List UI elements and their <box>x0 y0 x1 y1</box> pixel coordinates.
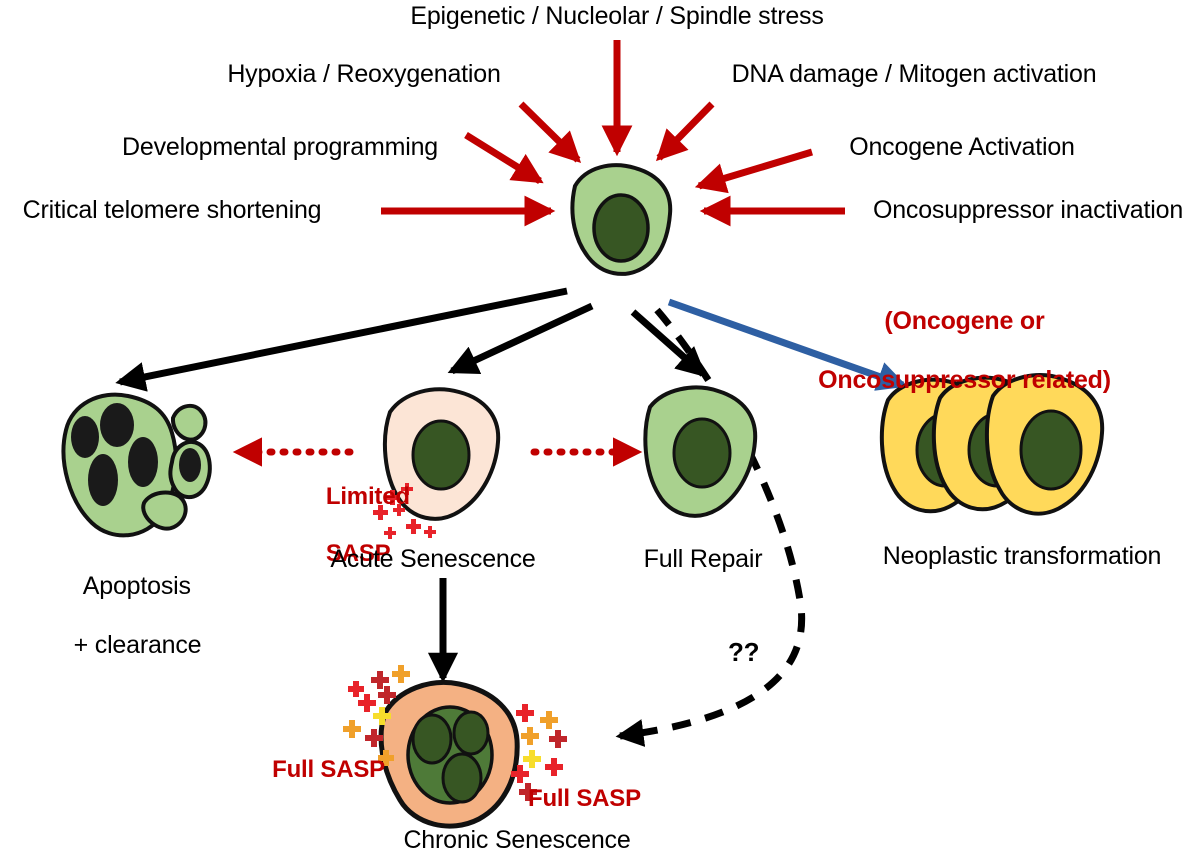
fate-arrow-to-acute <box>452 306 592 371</box>
stressor-label-epigenetic: Epigenetic / Nucleolar / Spindle stress <box>410 2 823 32</box>
apoptotic-bleb-4 <box>88 454 118 506</box>
stressor-label-oncosuppressor: Oncosuppressor inactivation <box>873 196 1183 226</box>
stress-arrow-dna-damage <box>659 104 712 158</box>
apoptotic-cell <box>64 395 210 536</box>
transformation-note-line1: (Oncogene or <box>884 307 1044 335</box>
apoptotic-fragment-top <box>173 406 205 440</box>
outcome-apoptosis-line2: + clearance <box>74 631 202 659</box>
stress-arrow-developmental <box>466 135 540 181</box>
outcome-label-neoplastic: Neoplastic transformation <box>883 542 1161 572</box>
stressor-label-hypoxia: Hypoxia / Reoxygenation <box>227 60 500 90</box>
apoptotic-bleb-1 <box>71 416 99 458</box>
transformation-note-line2: Oncosuppressor related) <box>818 366 1111 394</box>
outcome-label-apoptosis: Apoptosis + clearance <box>47 542 202 690</box>
stress-arrow-oncogene <box>699 152 812 186</box>
chronic-nucleus-lobe-2 <box>454 712 488 754</box>
limited-sasp-label: Limited SASP <box>300 455 410 597</box>
central-cell-nucleus <box>594 195 648 261</box>
stressor-label-dna-damage: DNA damage / Mitogen activation <box>732 60 1097 90</box>
outcome-label-acute: Acute Senescence <box>330 545 535 575</box>
repaired-cell-nucleus <box>674 419 730 487</box>
full-sasp-label-right: Full SASP <box>528 785 641 813</box>
outcome-label-repair: Full Repair <box>644 545 763 575</box>
fate-arrow-to-apoptosis <box>120 291 567 382</box>
full-sasp-label-left: Full SASP <box>272 756 385 784</box>
apoptotic-bleb-3 <box>128 437 158 487</box>
stressor-label-telomere: Critical telomere shortening <box>23 196 322 226</box>
central-stressed-cell <box>572 165 670 274</box>
stressor-label-oncogene: Oncogene Activation <box>849 133 1075 163</box>
senescence-diagram: Epigenetic / Nucleolar / Spindle stress … <box>0 0 1200 860</box>
outcome-label-chronic: Chronic Senescence <box>403 826 630 856</box>
uncertain-feedback-arrow <box>620 310 802 736</box>
chronic-nucleus-lobe-3 <box>443 754 481 802</box>
stressor-label-developmental: Developmental programming <box>122 133 438 163</box>
apoptotic-fragment-nucleus <box>179 448 201 482</box>
uncertain-link-label: ?? <box>728 637 759 668</box>
apoptotic-fragment-bottom <box>143 492 185 528</box>
diagram-canvas <box>0 0 1200 860</box>
transformation-note: (Oncogene or Oncosuppressor related) <box>791 277 1111 425</box>
stress-arrow-hypoxia <box>521 104 578 160</box>
limited-sasp-line1: Limited <box>326 483 410 510</box>
repaired-cell <box>645 388 755 516</box>
outcome-apoptosis-line1: Apoptosis <box>83 572 191 600</box>
chronic-nucleus-lobe-1 <box>413 715 451 763</box>
apoptotic-bleb-2 <box>100 403 134 447</box>
acute-cell-nucleus <box>413 421 469 489</box>
